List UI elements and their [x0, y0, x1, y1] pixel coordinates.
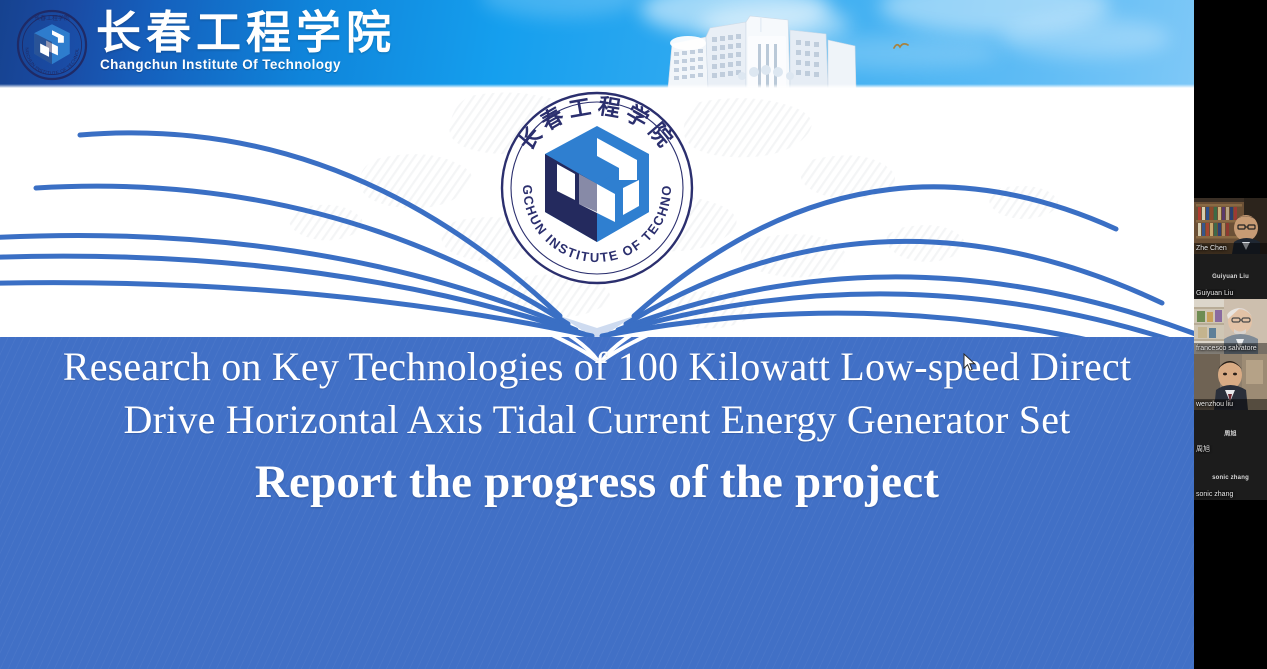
- screen-root: 长春工程学院 CHANGCHUN INSTITUTE OF TECHNOLOGY…: [0, 0, 1267, 669]
- mouse-pointer-icon: [963, 353, 976, 372]
- slide-title-block: Research on Key Technologies of 100 Kilo…: [0, 340, 1194, 514]
- participant-center-name: 周旭: [1194, 428, 1267, 437]
- participant-tile[interactable]: 周旭周旭: [1194, 410, 1267, 455]
- institution-name-en: Changchun Institute Of Technology: [100, 57, 341, 72]
- participant-tile[interactable]: francesco salvatore: [1194, 299, 1267, 354]
- participant-tile[interactable]: Zhe Chen: [1194, 198, 1267, 254]
- institution-name-cn: 长春工程学院: [96, 8, 396, 58]
- title-line-1: Research on Key Technologies of 100 Kilo…: [0, 340, 1194, 393]
- participant-center-name: Guiyuan Liu: [1194, 274, 1267, 280]
- strip-top-filler: [1194, 0, 1267, 198]
- participant-name-label: wenzhou liu: [1196, 400, 1265, 409]
- participant-name-label: 周旭: [1196, 445, 1265, 454]
- cloud-decoration: [480, 0, 640, 18]
- participant-tile[interactable]: sonic zhangsonic zhang: [1194, 455, 1267, 500]
- participant-tile[interactable]: wenzhou liu: [1194, 354, 1267, 410]
- participant-tile[interactable]: Guiyuan LiuGuiyuan Liu: [1194, 254, 1267, 299]
- strip-bottom-filler: [1194, 500, 1267, 669]
- cloud-decoration: [1000, 18, 1170, 58]
- presentation-slide: 长春工程学院 CHANGCHUN INSTITUTE OF TECHNOLOGY…: [0, 0, 1194, 669]
- slide-header-banner: 长春工程学院 CHANGCHUN INSTITUTE OF TECHNOLOGY…: [0, 0, 1194, 88]
- participant-name-label: Guiyuan Liu: [1196, 289, 1265, 298]
- participant-name-label: francesco salvatore: [1196, 344, 1265, 353]
- participants-strip[interactable]: Zhe ChenGuiyuan LiuGuiyuan Liu: [1194, 0, 1267, 669]
- participant-name-label: Zhe Chen: [1196, 244, 1265, 253]
- bird-icon: [893, 42, 909, 52]
- cit-seal-icon: 长春工程学院 CHANGCHUN INSTITUTE OF TECHNOLOGY: [497, 88, 697, 288]
- participant-name-label: sonic zhang: [1196, 490, 1265, 499]
- title-line-2: Drive Horizontal Axis Tidal Current Ener…: [0, 393, 1194, 446]
- participant-center-name: sonic zhang: [1194, 475, 1267, 481]
- title-line-3: Report the progress of the project: [0, 450, 1194, 514]
- cit-seal-icon: 长春工程学院 CHANGCHUN INSTITUTE OF TECHNOLOGY: [14, 8, 90, 82]
- participant-tiles[interactable]: Zhe ChenGuiyuan LiuGuiyuan Liu: [1194, 198, 1267, 500]
